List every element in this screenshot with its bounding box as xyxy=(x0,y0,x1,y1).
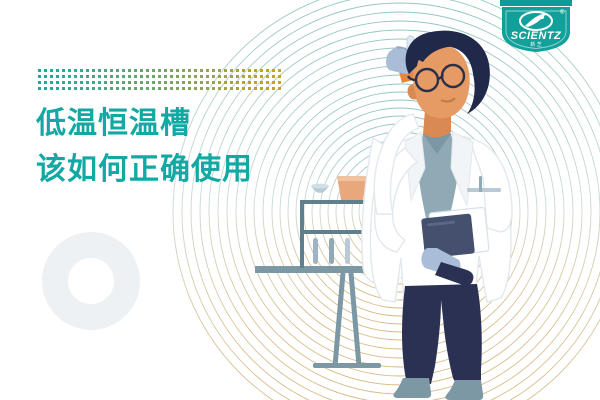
grid-dot xyxy=(50,87,53,90)
grid-dot xyxy=(200,69,203,72)
grid-dot xyxy=(128,81,131,84)
grid-dot xyxy=(98,75,101,78)
grid-dot xyxy=(224,75,227,78)
grid-dot xyxy=(38,69,41,72)
grid-dot xyxy=(122,69,125,72)
grid-dot xyxy=(236,69,239,72)
grid-dot xyxy=(38,75,41,78)
logo-brand-text: SCIENTZ xyxy=(511,30,562,42)
grid-dot xyxy=(182,75,185,78)
grid-dot xyxy=(110,75,113,78)
grid-dot xyxy=(248,87,251,90)
grid-dot xyxy=(164,81,167,84)
grid-dot xyxy=(152,81,155,84)
head-group xyxy=(406,31,490,138)
grid-dot xyxy=(134,69,137,72)
grid-dot xyxy=(44,75,47,78)
grid-dot xyxy=(224,69,227,72)
grid-dot xyxy=(62,75,65,78)
grid-dot xyxy=(122,75,125,78)
grid-dot xyxy=(212,75,215,78)
grid-dot xyxy=(194,69,197,72)
grid-dot xyxy=(242,81,245,84)
grid-dot xyxy=(188,75,191,78)
grid-dot xyxy=(116,81,119,84)
grid-dot xyxy=(68,75,71,78)
grid-dot xyxy=(122,81,125,84)
grid-dot xyxy=(98,81,101,84)
grid-dot xyxy=(170,81,173,84)
page-title-line2: 该如何正确使用 xyxy=(36,150,253,190)
registered-mark: ® xyxy=(560,9,565,16)
grid-dot xyxy=(152,75,155,78)
grid-dot xyxy=(188,69,191,72)
grid-dot xyxy=(206,75,209,78)
grid-dot xyxy=(104,75,107,78)
grid-dot xyxy=(62,87,65,90)
grid-dot xyxy=(146,81,149,84)
grid-dot xyxy=(230,69,233,72)
grid-dot xyxy=(146,69,149,72)
grid-dot xyxy=(182,69,185,72)
grid-dot xyxy=(92,75,95,78)
poster-canvas: 低温恒温槽 该如何正确使用 xyxy=(0,0,600,400)
grid-dot xyxy=(98,87,101,90)
grid-dot xyxy=(44,69,47,72)
grid-dot xyxy=(218,81,221,84)
grid-dot xyxy=(38,81,41,84)
grid-dot xyxy=(134,87,137,90)
grid-dot xyxy=(248,69,251,72)
grid-dot xyxy=(176,81,179,84)
grid-dot xyxy=(152,69,155,72)
grid-dot xyxy=(152,87,155,90)
grid-dot xyxy=(194,87,197,90)
grid-dot xyxy=(104,81,107,84)
scientist-illustration xyxy=(255,18,600,400)
grid-dot xyxy=(158,87,161,90)
grid-dot xyxy=(146,87,149,90)
grid-dot xyxy=(104,69,107,72)
donut-ring-decoration xyxy=(42,232,140,330)
grid-dot xyxy=(200,87,203,90)
grid-dot xyxy=(80,87,83,90)
grid-dot xyxy=(164,87,167,90)
grid-dot xyxy=(110,69,113,72)
grid-dot xyxy=(140,69,143,72)
grid-dot xyxy=(50,75,53,78)
grid-dot xyxy=(86,81,89,84)
grid-dot xyxy=(164,69,167,72)
grid-dot xyxy=(50,81,53,84)
grid-dot xyxy=(80,81,83,84)
grid-dot xyxy=(128,87,131,90)
grid-dot xyxy=(140,75,143,78)
grid-dot xyxy=(164,75,167,78)
grid-dot xyxy=(200,75,203,78)
grid-dot xyxy=(56,87,59,90)
grid-dot xyxy=(206,87,209,90)
trousers xyxy=(402,284,482,386)
grid-dot xyxy=(236,81,239,84)
grid-dot xyxy=(86,69,89,72)
grid-dot xyxy=(236,87,239,90)
grid-dot xyxy=(194,81,197,84)
logo-sub-text: 新 芝 xyxy=(530,41,542,48)
dot-grid-decoration xyxy=(38,69,284,93)
grid-dot xyxy=(242,87,245,90)
grid-dot xyxy=(212,81,215,84)
grid-dot xyxy=(110,81,113,84)
grid-dot xyxy=(182,81,185,84)
grid-dot xyxy=(92,69,95,72)
grid-dot xyxy=(50,69,53,72)
grid-dot xyxy=(158,75,161,78)
grid-dot xyxy=(212,69,215,72)
grid-dot xyxy=(176,87,179,90)
grid-dot xyxy=(116,87,119,90)
grid-dot xyxy=(218,69,221,72)
grid-dot xyxy=(194,75,197,78)
grid-dot xyxy=(236,75,239,78)
grid-dot xyxy=(200,81,203,84)
page-title-line1: 低温恒温槽 xyxy=(36,107,191,140)
grid-dot xyxy=(56,81,59,84)
grid-dot xyxy=(86,87,89,90)
grid-dot xyxy=(74,81,77,84)
grid-dot xyxy=(248,81,251,84)
grid-dot xyxy=(128,75,131,78)
grid-dot xyxy=(74,87,77,90)
grid-dot xyxy=(92,81,95,84)
grid-dot xyxy=(218,75,221,78)
grid-dot xyxy=(242,75,245,78)
grid-dot xyxy=(176,69,179,72)
grid-dot xyxy=(116,75,119,78)
grid-dot xyxy=(134,75,137,78)
brand-logo[interactable]: ® SCIENTZ 新 芝 xyxy=(498,0,574,52)
grid-dot xyxy=(188,81,191,84)
grid-dot xyxy=(68,69,71,72)
grid-dot xyxy=(116,69,119,72)
grid-dot xyxy=(206,69,209,72)
grid-dot xyxy=(230,75,233,78)
grid-dot xyxy=(128,69,131,72)
grid-dot xyxy=(212,87,215,90)
grid-dot xyxy=(80,75,83,78)
grid-dot xyxy=(182,87,185,90)
grid-dot xyxy=(134,81,137,84)
grid-dot xyxy=(170,75,173,78)
grid-dot xyxy=(86,75,89,78)
grid-dot xyxy=(230,87,233,90)
grid-dot xyxy=(224,81,227,84)
grid-dot xyxy=(44,81,47,84)
grid-dot xyxy=(80,69,83,72)
grid-dot xyxy=(218,87,221,90)
logo-top-bar xyxy=(500,0,572,6)
grid-dot xyxy=(146,75,149,78)
grid-dot xyxy=(104,87,107,90)
grid-dot xyxy=(230,81,233,84)
grid-dot xyxy=(44,87,47,90)
grid-dot xyxy=(122,87,125,90)
grid-dot xyxy=(224,87,227,90)
grid-dot xyxy=(140,87,143,90)
grid-dot xyxy=(158,81,161,84)
grid-dot xyxy=(68,87,71,90)
grid-dot xyxy=(242,69,245,72)
grid-dot xyxy=(158,69,161,72)
grid-dot xyxy=(248,75,251,78)
bottom-watermark: · · · · · · · · · · · · xyxy=(285,388,555,398)
grid-dot xyxy=(74,75,77,78)
grid-dot xyxy=(38,87,41,90)
grid-dot xyxy=(110,87,113,90)
grid-dot xyxy=(98,69,101,72)
grid-dot xyxy=(62,69,65,72)
grid-dot xyxy=(68,81,71,84)
grid-dot xyxy=(56,75,59,78)
grid-dot xyxy=(170,69,173,72)
grid-dot xyxy=(206,81,209,84)
grid-dot xyxy=(56,69,59,72)
grid-dot xyxy=(170,87,173,90)
grid-dot xyxy=(74,69,77,72)
page-title: 低温恒温槽 该如何正确使用 xyxy=(36,104,253,190)
grid-dot xyxy=(92,87,95,90)
grid-dot xyxy=(140,81,143,84)
grid-dot xyxy=(176,75,179,78)
grid-dot xyxy=(188,87,191,90)
grid-dot xyxy=(62,81,65,84)
